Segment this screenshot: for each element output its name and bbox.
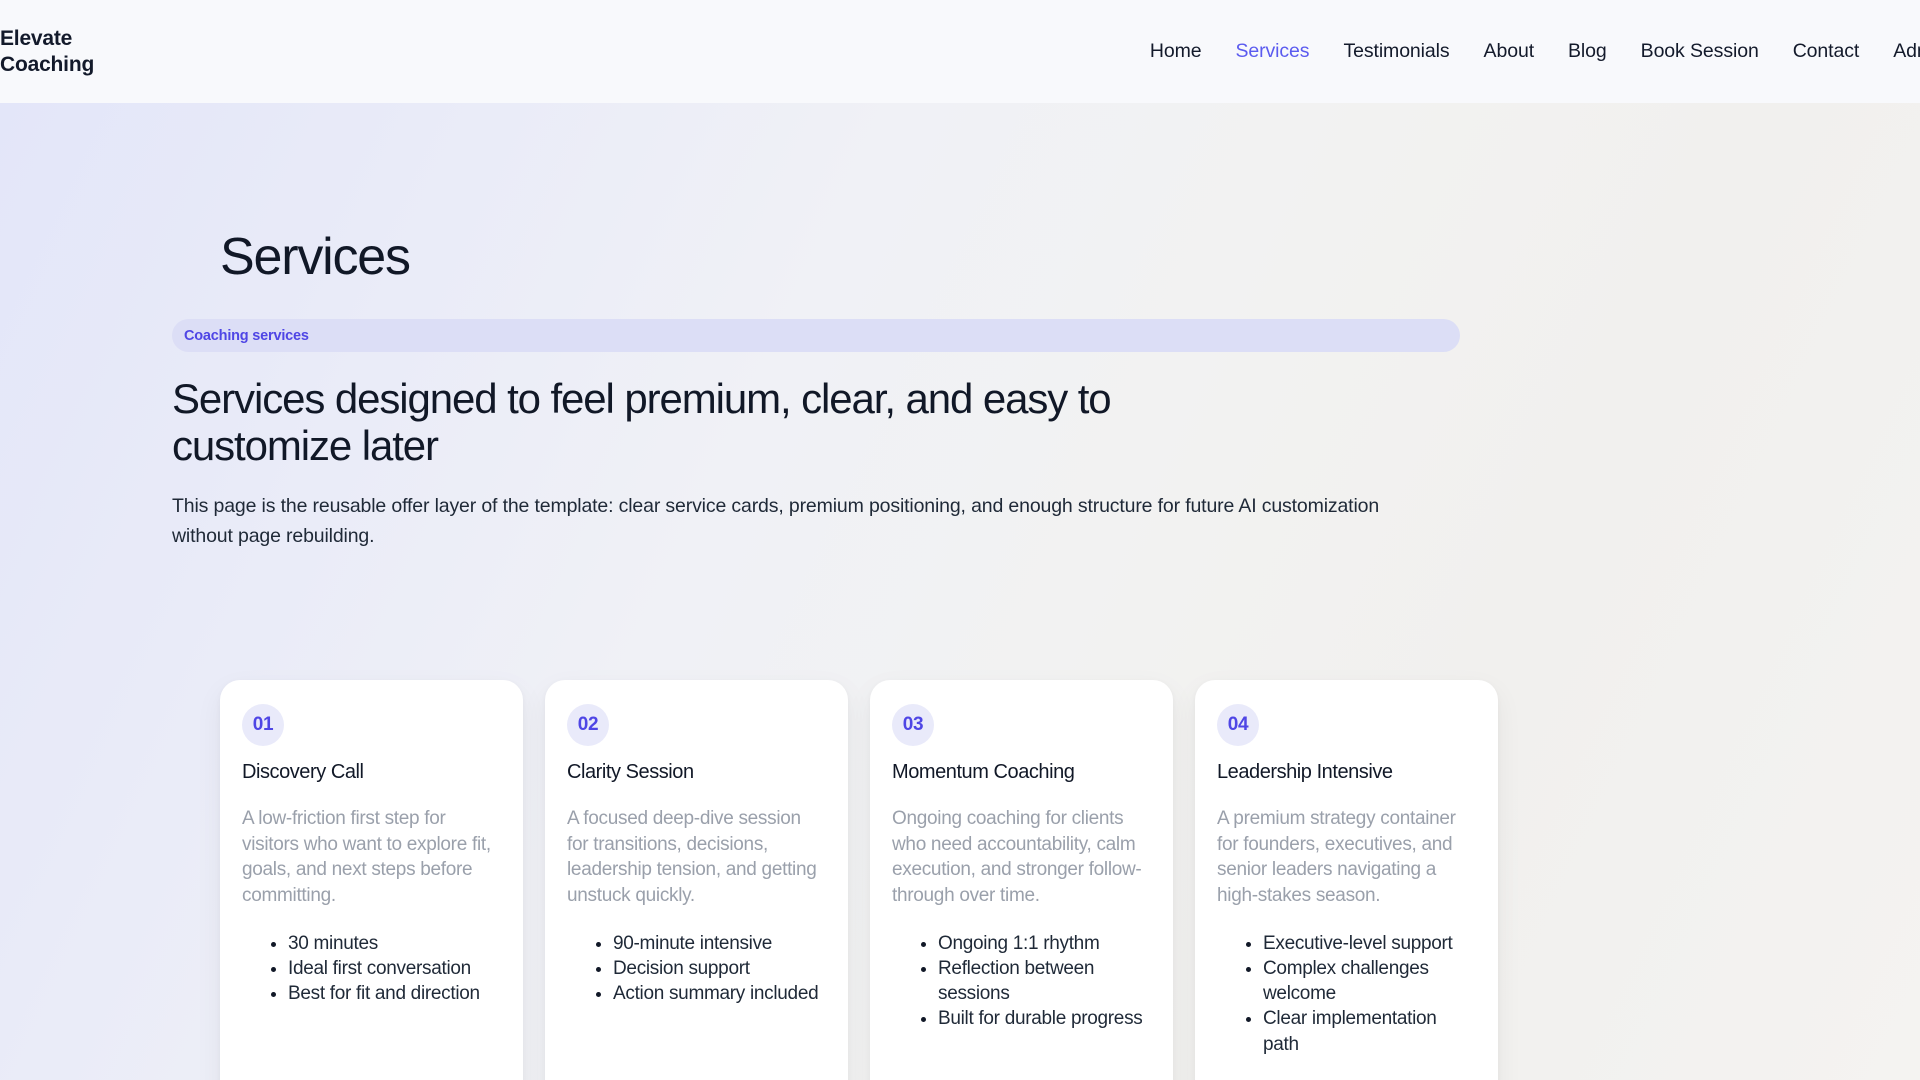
nav-item-admin[interactable]: Admin (1893, 40, 1920, 63)
brand-logo[interactable]: Elevate Coaching (0, 26, 150, 77)
service-card[interactable]: 01 Discovery Call A low-friction first s… (220, 680, 523, 1080)
nav-item-about[interactable]: About (1484, 40, 1534, 63)
card-feature-list: Executive-level support Complex challeng… (1217, 931, 1476, 1057)
card-title: Momentum Coaching (892, 760, 1151, 784)
card-feature-list: 30 minutes Ideal first conversation Best… (242, 931, 501, 1007)
card-description: A focused deep-dive session for transiti… (567, 806, 826, 909)
list-item: Reflection between sessions (938, 956, 1151, 1007)
list-item: Complex challenges welcome (1263, 956, 1476, 1007)
card-description: A low-friction first step for visitors w… (242, 806, 501, 909)
list-item: 30 minutes (288, 931, 501, 956)
list-item: Decision support (613, 956, 826, 981)
status-badge-label: Coaching services (184, 328, 309, 344)
list-item: Built for durable progress (938, 1006, 1151, 1031)
hero-subcopy: This page is the reusable offer layer of… (172, 491, 1442, 551)
hero-content: Services Coaching services Services desi… (220, 103, 1720, 552)
card-number-badge: 03 (892, 704, 934, 746)
nav-item-contact[interactable]: Contact (1793, 40, 1860, 63)
list-item: Ideal first conversation (288, 956, 501, 981)
nav-item-services[interactable]: Services (1235, 40, 1309, 63)
card-number-badge: 01 (242, 704, 284, 746)
card-number-badge: 02 (567, 704, 609, 746)
service-card[interactable]: 03 Momentum Coaching Ongoing coaching fo… (870, 680, 1173, 1080)
list-item: Best for fit and direction (288, 981, 501, 1006)
service-card[interactable]: 04 Leadership Intensive A premium strate… (1195, 680, 1498, 1080)
list-item: Executive-level support (1263, 931, 1476, 956)
nav-item-testimonials[interactable]: Testimonials (1343, 40, 1449, 63)
card-title: Leadership Intensive (1217, 760, 1476, 784)
page-root: Elevate Coaching Home Services Testimoni… (0, 0, 1920, 1080)
card-title: Discovery Call (242, 760, 501, 784)
card-description: A premium strategy container for founder… (1217, 806, 1476, 909)
list-item: Ongoing 1:1 rhythm (938, 931, 1151, 956)
list-item: Clear implementation path (1263, 1006, 1476, 1057)
main-navigation: Home Services Testimonials About Blog Bo… (1150, 40, 1920, 63)
status-badge: Coaching services (172, 319, 1460, 352)
nav-item-book-session[interactable]: Book Session (1641, 40, 1759, 63)
service-cards-row: 01 Discovery Call A low-friction first s… (220, 680, 1498, 1080)
card-description: Ongoing coaching for clients who need ac… (892, 806, 1151, 909)
list-item: 90-minute intensive (613, 931, 826, 956)
card-number-badge: 04 (1217, 704, 1259, 746)
nav-item-home[interactable]: Home (1150, 40, 1202, 63)
card-feature-list: Ongoing 1:1 rhythm Reflection between se… (892, 931, 1151, 1032)
site-header: Elevate Coaching Home Services Testimoni… (0, 0, 1920, 103)
hero-headline: Services designed to feel premium, clear… (172, 375, 1292, 469)
list-item: Action summary included (613, 981, 826, 1006)
service-card[interactable]: 02 Clarity Session A focused deep-dive s… (545, 680, 848, 1080)
hero-section: Services Coaching services Services desi… (0, 103, 1920, 1080)
nav-item-blog[interactable]: Blog (1568, 40, 1607, 63)
page-title: Services (220, 229, 1720, 286)
card-feature-list: 90-minute intensive Decision support Act… (567, 931, 826, 1007)
card-title: Clarity Session (567, 760, 826, 784)
